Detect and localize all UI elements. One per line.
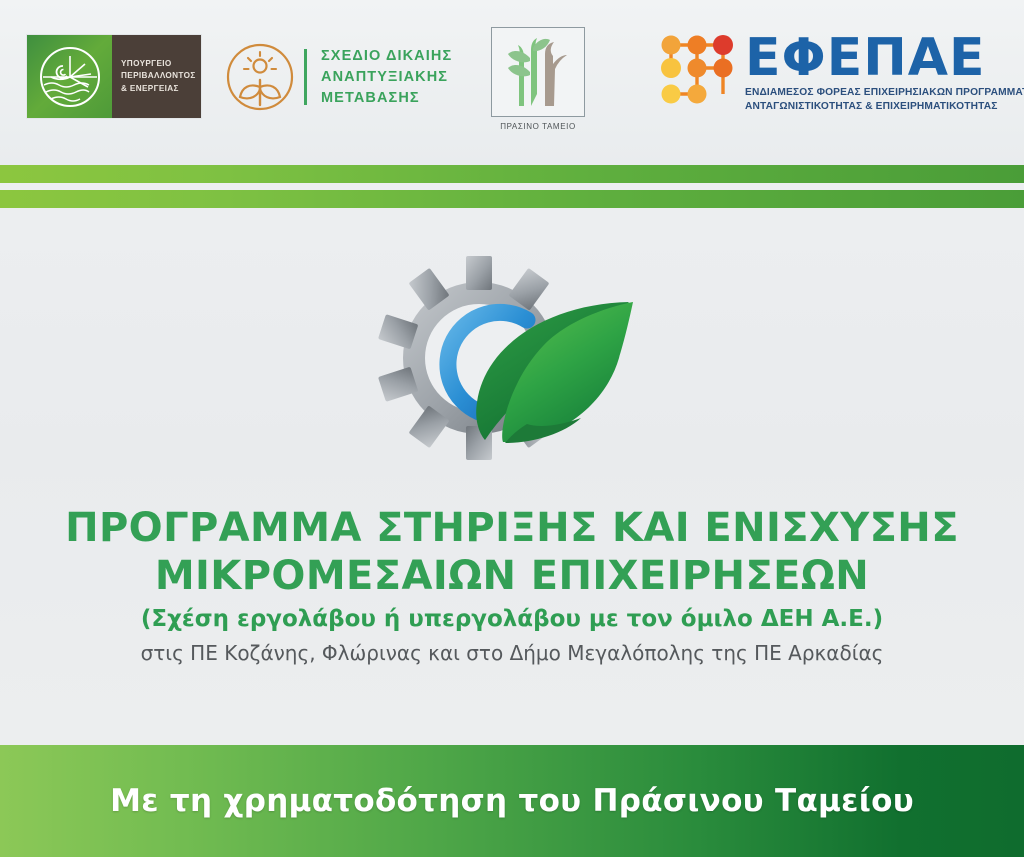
green-fund-caption: ΠΡΑΣΙΝΟ ΤΑΜΕΙΟ [486,122,590,131]
ministry-wordmark: ΥΠΟΥΡΓΕΙΟ ΠΕΡΙΒΑΛΛΟΝΤΟΣ & ΕΝΕΡΓΕΙΑΣ [112,35,201,118]
program-regions: στις ΠΕ Κοζάνης, Φλώρινας και στο Δήμο Μ… [0,641,1024,665]
ministry-sun-sea-emblem-icon [39,46,101,108]
green-fund-trees-icon [493,28,583,114]
ministry-of-environment-and-energy-logo: ΥΠΟΥΡΓΕΙΟ ΠΕΡΙΒΑΛΛΟΝΤΟΣ & ΕΝΕΡΓΕΙΑΣ [26,34,202,119]
ministry-line-3: & ΕΝΕΡΓΕΙΑΣ [121,83,201,96]
jtp-line-3: ΜΕΤΑΒΑΣΗΣ [321,88,452,109]
poster-titles: ΠΡΟΓΡΑΜΜΑ ΣΤΗΡΙΞΗΣ ΚΑΙ ΕΝΙΣΧΥΣΗΣ ΜΙΚΡΟΜΕ… [0,504,1024,665]
jtp-sprout-sun-icon [224,41,296,113]
gear-leaf-program-logo [367,242,657,472]
program-title-line-2: ΜΙΚΡΟΜΕΣΑΙΩΝ ΕΠΙΧΕΙΡΗΣΕΩΝ [0,552,1024,600]
ministry-emblem-panel [27,35,112,118]
funding-banner: Με τη χρηματοδότηση του Πράσινου Ταμείου [0,745,1024,857]
just-development-transition-plan-logo: ΣΧΕΔΙΟ ΔΙΚΑΙΗΣ ΑΝΑΠΤΥΞΙΑΚΗΣ ΜΕΤΑΒΑΣΗΣ [224,32,452,122]
ministry-line-2: ΠΕΡΙΒΑΛΛΟΝΤΟΣ [121,70,201,83]
efepae-wordmark: ΕΦΕΠΑΕ ΕΝΔΙΑΜΕΣΟΣ ΦΟΡΕΑΣ ΕΠΙΧΕΙΡΗΣΙΑΚΩΝ … [745,28,1024,114]
jtp-divider [304,49,307,105]
jtp-wordmark: ΣΧΕΔΙΟ ΔΙΚΑΙΗΣ ΑΝΑΠΤΥΞΙΑΚΗΣ ΜΕΤΑΒΑΣΗΣ [321,46,452,109]
logo-header-bar: ΥΠΟΥΡΓΕΙΟ ΠΕΡΙΒΑΛΛΟΝΤΟΣ & ΕΝΕΡΓΕΙΑΣ [0,0,1024,165]
funding-banner-text: Με τη χρηματοδότηση του Πράσινου Ταμείου [110,783,914,819]
green-stripe-top [0,165,1024,183]
efepae-network-nodes-icon [657,28,735,120]
program-subtitle: (Σχέση εργολάβου ή υπεργολάβου με τον όμ… [0,606,1024,632]
green-stripe-bottom [0,190,1024,208]
efepae-title: ΕΦΕΠΑΕ [745,30,1024,86]
jtp-line-2: ΑΝΑΠΤΥΞΙΑΚΗΣ [321,67,452,88]
efepae-subtitle: ΕΝΔΙΑΜΕΣΟΣ ΦΟΡΕΑΣ ΕΠΙΧΕΙΡΗΣΙΑΚΩΝ ΠΡΟΓΡΑΜ… [745,86,1024,114]
stripe-gap [0,183,1024,190]
poster-body: ΠΡΟΓΡΑΜΜΑ ΣΤΗΡΙΞΗΣ ΚΑΙ ΕΝΙΣΧΥΣΗΣ ΜΙΚΡΟΜΕ… [0,208,1024,745]
efepae-subtitle-line-2: ΑΝΤΑΓΩΝΙΣΤΙΚΟΤΗΤΑΣ & ΕΠΙΧΕΙΡΗΜΑΤΙΚΟΤΗΤΑΣ [745,100,1024,114]
green-fund-logo: ΠΡΑΣΙΝΟ ΤΑΜΕΙΟ [486,27,590,131]
program-poster: ΥΠΟΥΡΓΕΙΟ ΠΕΡΙΒΑΛΛΟΝΤΟΣ & ΕΝΕΡΓΕΙΑΣ [0,0,1024,857]
green-fund-emblem-box [491,27,585,117]
efepae-subtitle-line-1: ΕΝΔΙΑΜΕΣΟΣ ΦΟΡΕΑΣ ΕΠΙΧΕΙΡΗΣΙΑΚΩΝ ΠΡΟΓΡΑΜ… [745,86,1024,100]
jtp-line-1: ΣΧΕΔΙΟ ΔΙΚΑΙΗΣ [321,46,452,67]
program-title-line-1: ΠΡΟΓΡΑΜΜΑ ΣΤΗΡΙΞΗΣ ΚΑΙ ΕΝΙΣΧΥΣΗΣ [0,504,1024,552]
efepae-logo: ΕΦΕΠΑΕ ΕΝΔΙΑΜΕΣΟΣ ΦΟΡΕΑΣ ΕΠΙΧΕΙΡΗΣΙΑΚΩΝ … [657,28,1024,120]
ministry-line-1: ΥΠΟΥΡΓΕΙΟ [121,58,201,71]
